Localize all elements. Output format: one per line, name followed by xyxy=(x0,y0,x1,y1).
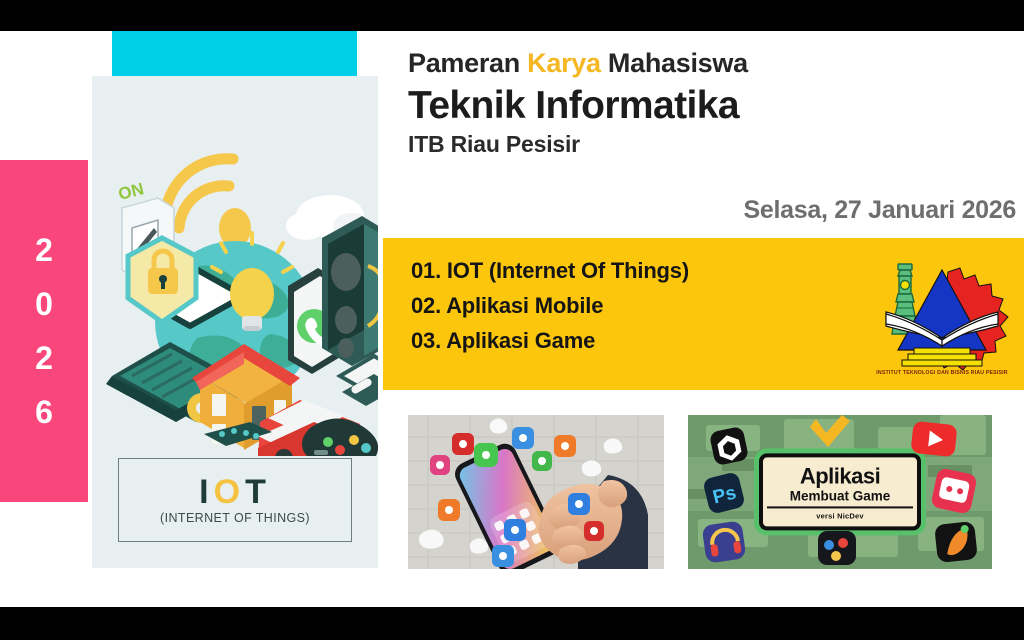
header-line-1: Pameran Karya Mahasiswa xyxy=(408,47,1024,81)
audio-editor-icon xyxy=(702,520,747,563)
photo-aplikasi-mobile xyxy=(408,415,664,569)
event-date: Selasa, 27 Januari 2026 xyxy=(408,196,1016,225)
unity-icon xyxy=(709,426,749,466)
list-item: 01. IOT (Internet Of Things) xyxy=(411,259,689,282)
iot-isometric-illustration: ON xyxy=(92,76,378,456)
header-line-3: ITB Riau Pesisir xyxy=(408,130,1024,160)
game-tool-icons: Ps xyxy=(688,415,992,569)
year-digit: 2 xyxy=(35,342,53,374)
video-editor-icon xyxy=(818,531,856,565)
letterbox-top xyxy=(0,0,1024,31)
header-line1-post: Mahasiswa xyxy=(601,48,748,78)
hand-holding-phone-with-app-icons xyxy=(408,415,664,569)
photo-aplikasi-game: Aplikasi Membuat Game versi NicDev Ps xyxy=(688,415,992,569)
fl-studio-icon xyxy=(934,521,978,563)
itb-riau-pesisir-logo: INSTITUT TEKNOLOGI DAN BISNIS RIAU PESIS… xyxy=(874,246,1010,382)
iot-title: IOT xyxy=(199,475,271,509)
presentation-slide: 2 0 2 6 xyxy=(0,0,1024,640)
check-icon xyxy=(810,415,850,447)
year-digit: 2 xyxy=(35,234,53,266)
logo-caption: INSTITUT TEKNOLOGI DAN BISNIS RIAU PESIS… xyxy=(876,370,1008,376)
iot-title-highlight: O xyxy=(214,473,245,511)
list-item: 02. Aplikasi Mobile xyxy=(411,294,689,317)
year-digit: 0 xyxy=(35,288,53,320)
header-line-2: Teknik Informatika xyxy=(408,83,1024,129)
topics-panel: 01. IOT (Internet Of Things) 02. Aplikas… xyxy=(383,238,1024,390)
header-line1-pre: Pameran xyxy=(408,48,527,78)
iot-subtitle: (INTERNET OF THINGS) xyxy=(160,511,310,525)
slide-canvas: 2 0 2 6 xyxy=(0,31,1024,607)
topics-list: 01. IOT (Internet Of Things) 02. Aplikas… xyxy=(411,259,689,352)
year-sidebar-2026: 2 0 2 6 xyxy=(0,160,88,502)
cyan-accent-bar xyxy=(112,31,357,76)
iot-poster-card: ON xyxy=(92,76,378,568)
year-digit: 6 xyxy=(35,396,53,428)
header-block: Pameran Karya Mahasiswa Teknik Informati… xyxy=(408,47,1024,160)
photoshop-icon: Ps xyxy=(702,471,746,515)
iot-title-box: IOT (INTERNET OF THINGS) xyxy=(118,458,352,542)
list-item: 03. Aplikasi Game xyxy=(411,329,689,352)
gamepad-icon xyxy=(930,467,977,514)
header-line1-highlight: Karya xyxy=(527,48,601,78)
letterbox-bottom xyxy=(0,607,1024,640)
youtube-icon xyxy=(910,421,957,457)
iot-title-last: T xyxy=(245,473,271,511)
iot-title-first: I xyxy=(199,473,213,511)
